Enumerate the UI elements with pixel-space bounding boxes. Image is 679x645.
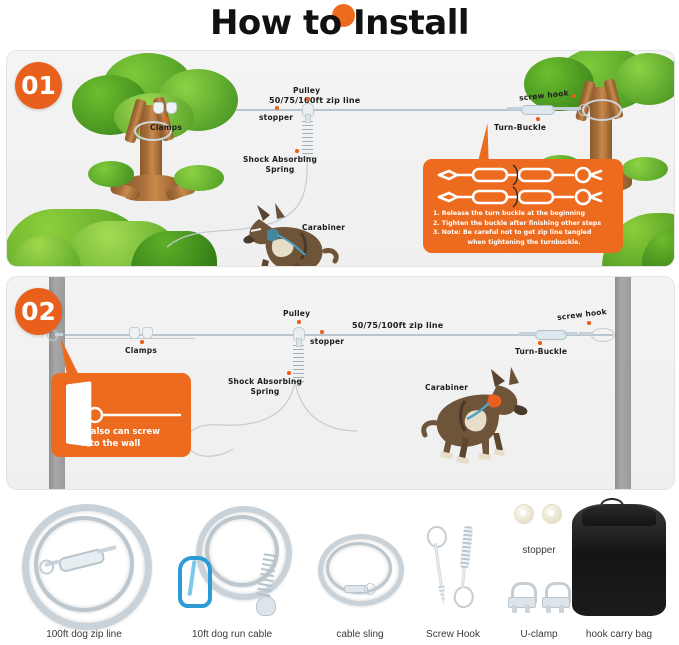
wall-post-right — [615, 276, 631, 490]
step-badge-02: 02 — [15, 288, 62, 335]
callout-instructions-01: 1. Release the turn buckle at the beginn… — [433, 209, 615, 247]
wall-callout-line-1: it also can screw — [81, 425, 185, 437]
label-pulley: Pulley — [283, 309, 310, 318]
product-caption: 100ft dog zip line — [6, 629, 162, 640]
swivel-graphic — [256, 596, 276, 616]
clamps-marker — [164, 117, 168, 121]
shock-spring-marker — [295, 149, 299, 153]
product-run-cable: 10ft dog run cable — [160, 498, 304, 640]
stopper-marker — [275, 106, 279, 110]
shock-spring-line1: Shock Absorbing — [228, 377, 302, 386]
wall-callout-line-2: into the wall — [81, 437, 185, 449]
label-zip-line: 50/75/100ft zip line — [352, 321, 443, 330]
callout-line-4: when tightening the turnbuckle. — [433, 238, 615, 248]
carabiner-graphic — [176, 556, 208, 606]
label-shock-absorbing-spring: Shock Absorbing Spring — [219, 377, 311, 397]
label-turn-buckle: Turn-Buckle — [515, 347, 567, 356]
install-step-panel-01: Clamps 50/75/100ft zip line Pulley stopp… — [6, 50, 675, 267]
clamps-icon — [129, 325, 155, 339]
turn-buckle-marker — [538, 341, 542, 345]
bag-top-gather — [582, 504, 656, 526]
screw-hook-icon — [579, 328, 615, 342]
callout-line-2: 2. Tighten the buckle after finishing ot… — [433, 219, 615, 229]
label-clamps: Clamps — [125, 346, 157, 355]
product-list: 100ft dog zip line 10ft dog run cable ca… — [0, 492, 679, 645]
stopper-marker — [320, 330, 324, 334]
wall-eye-bolt-graphic — [77, 405, 183, 425]
clamps-icon — [153, 100, 179, 114]
label-clamps: Clamps — [150, 123, 182, 132]
shock-spring-line2: Spring — [266, 165, 295, 174]
label-carabiner: Carabiner — [302, 223, 345, 232]
screw-hook-marker — [587, 321, 591, 325]
turn-buckle-marker — [536, 117, 540, 121]
callout-line-3: 3. Note: Be careful not to get zip line … — [433, 228, 615, 238]
u-clamp-graphic-1 — [508, 582, 534, 614]
title-highlight: I — [353, 3, 365, 43]
label-shock-absorbing-spring: Shock Absorbing Spring — [235, 155, 325, 175]
title-after: nstall — [365, 3, 469, 43]
product-caption: hook carry bag — [560, 629, 678, 640]
screw-hook-marker — [572, 94, 576, 98]
label-screw-hook: screw hook — [557, 307, 608, 322]
pulley-marker — [306, 97, 310, 101]
shock-spring-line1: Shock Absorbing — [243, 155, 317, 164]
screw-hook-icon — [563, 103, 589, 117]
label-carabiner: Carabiner — [425, 383, 468, 392]
turn-buckle-callout: 1. Release the turn buckle at the beginn… — [423, 159, 623, 253]
page-title: How to Install — [0, 0, 679, 46]
sling-thimble-graphic — [344, 582, 374, 594]
label-turn-buckle: Turn-Buckle — [494, 123, 546, 132]
stopper-hole-2 — [548, 510, 554, 516]
label-zip-line: 50/75/100ft zip line — [269, 96, 360, 105]
screw-hook-graphic-2 — [450, 523, 479, 609]
dog-illustration — [239, 199, 343, 267]
label-stopper: stopper — [259, 113, 293, 122]
callout-line-1: 1. Release the turn buckle at the beginn… — [433, 209, 615, 219]
wall-screw-callout: it also can screw into the wall — [51, 373, 191, 457]
install-step-panel-02: Clamps Pulley stopper 50/75/100ft zip li… — [6, 276, 675, 490]
clamps-marker — [140, 340, 144, 344]
page-header: How to Install — [0, 0, 679, 46]
product-caption: 10ft dog run cable — [160, 629, 304, 640]
label-stopper: stopper — [310, 337, 344, 346]
shock-absorbing-spring-icon — [302, 121, 313, 159]
turnbuckle-diagram — [433, 165, 613, 209]
pulley-icon — [292, 327, 304, 345]
turn-buckle-icon — [507, 103, 567, 115]
product-zip-line: 100ft dog zip line — [6, 498, 162, 640]
wall-callout-text: it also can screw into the wall — [81, 425, 185, 449]
shock-spring-line2: Spring — [251, 387, 280, 396]
step-badge-01: 01 — [15, 62, 62, 109]
screw-hook-graphic-1 — [423, 525, 454, 607]
dog-illustration — [417, 365, 535, 465]
zip-line-cable-slack — [55, 338, 195, 339]
turn-buckle-icon — [519, 328, 577, 340]
product-carry-bag: hook carry bag — [560, 494, 678, 640]
label-pulley: Pulley — [293, 86, 320, 95]
title-before: How to — [210, 3, 353, 43]
shock-spring-marker — [287, 371, 291, 375]
stopper-hole-1 — [520, 510, 526, 516]
pulley-marker — [297, 320, 301, 324]
pulley-icon — [301, 103, 313, 121]
